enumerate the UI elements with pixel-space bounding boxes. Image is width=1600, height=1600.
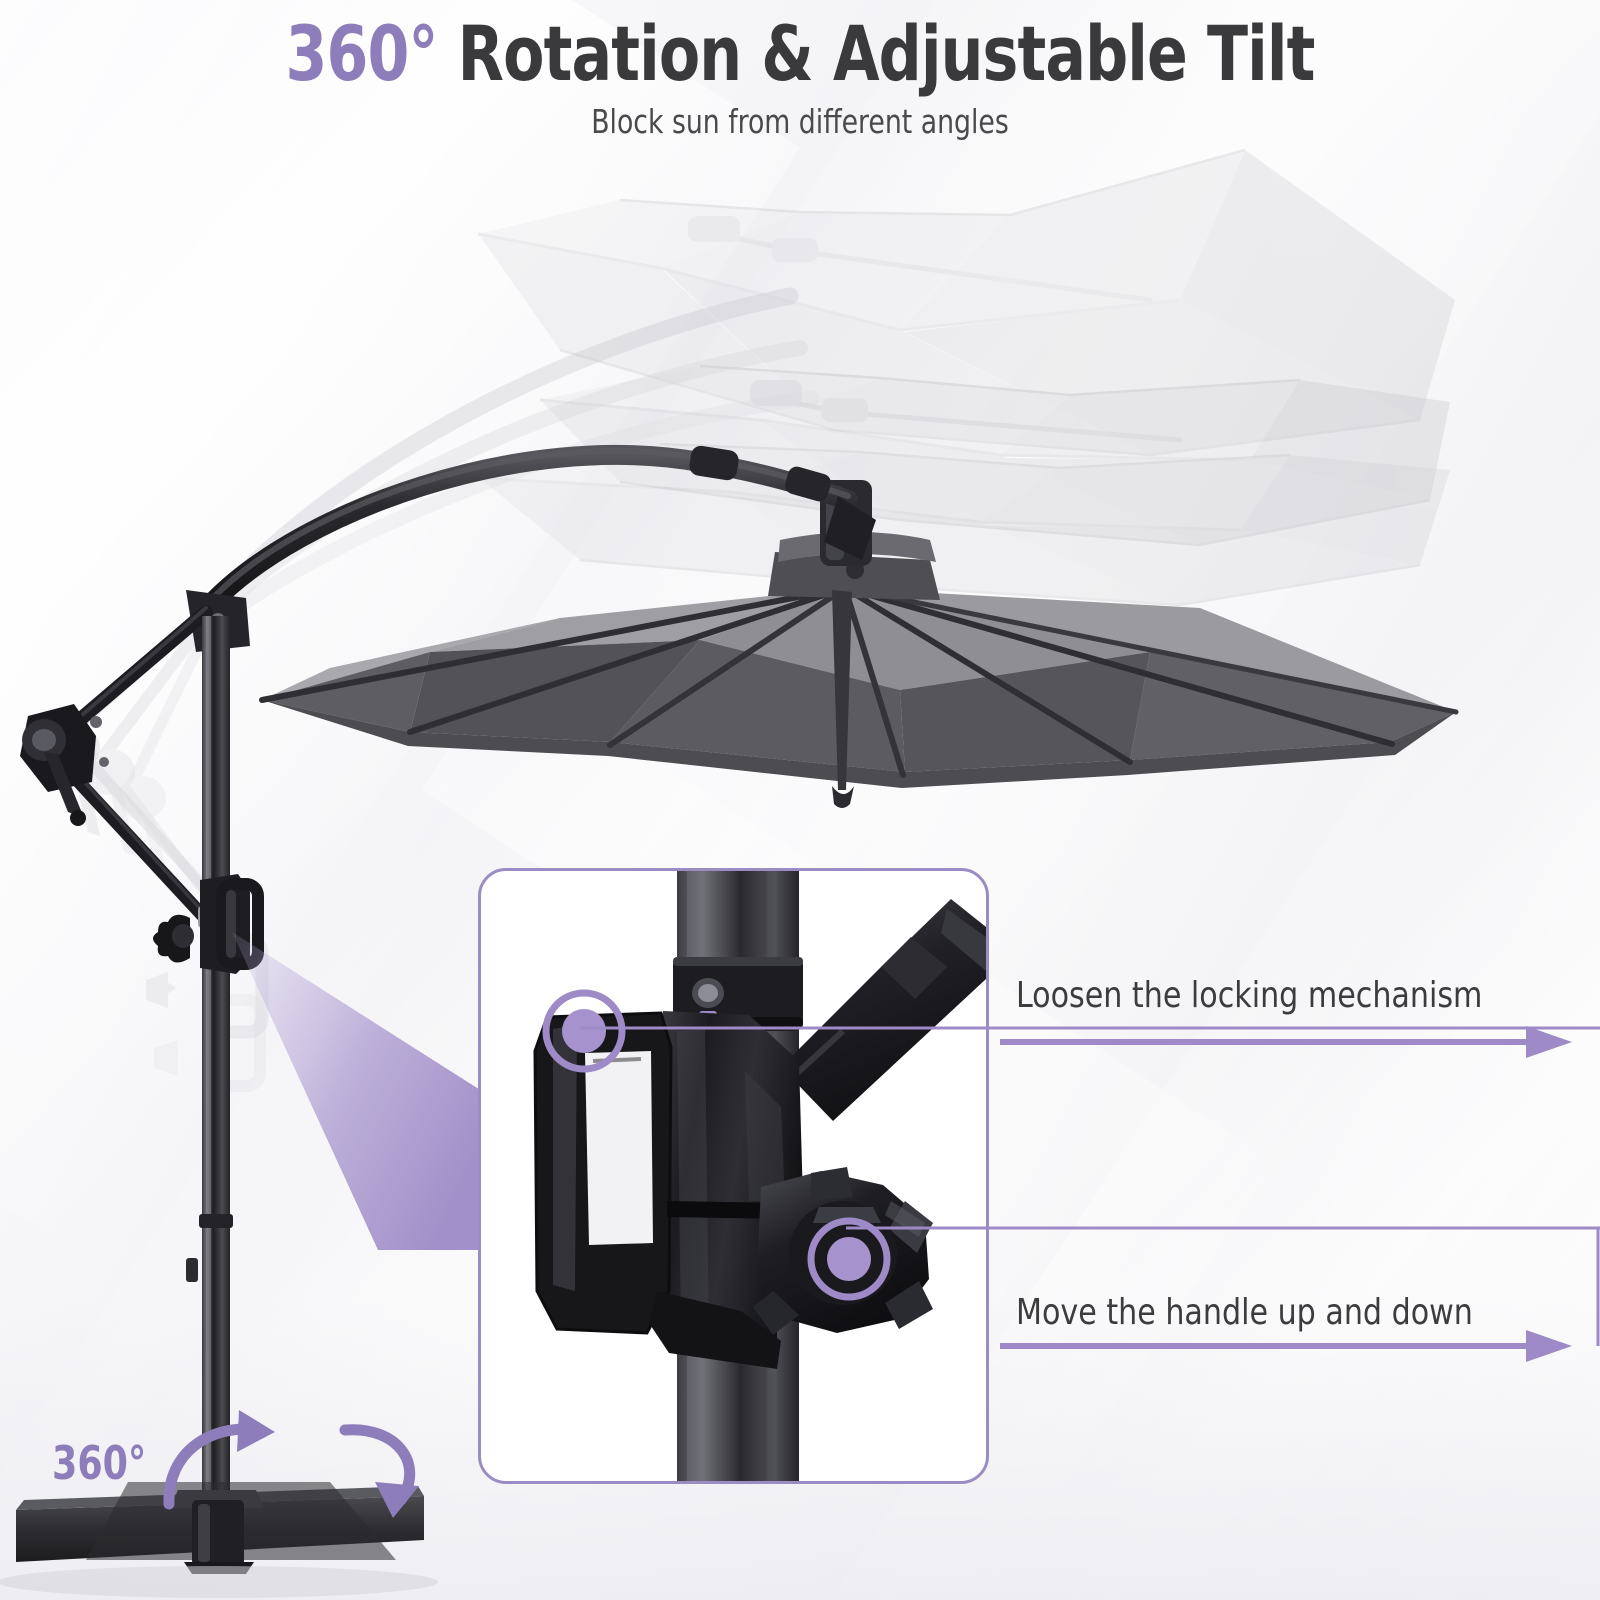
detail-inset-box [478, 868, 989, 1484]
rotation-badge: 360° [52, 1408, 453, 1518]
handle-closeup-illustration [481, 871, 986, 1481]
locking-handle-mechanism [153, 874, 258, 974]
callout-handle-label: Move the handle up and down [1016, 1292, 1473, 1333]
page-title: 360° Rotation & Adjustable Tilt [96, 14, 1504, 94]
ghost-canopy-low [480, 444, 1450, 605]
title-accent: 360° [285, 9, 437, 98]
rotation-arrows-icon [153, 1408, 453, 1518]
center-pole [186, 616, 234, 1546]
page-subtitle: Block sun from different angles [80, 102, 1520, 141]
callout-loosen-label: Loosen the locking mechanism [1016, 975, 1482, 1016]
callout-handle: Move the handle up and down [1016, 1292, 1507, 1333]
header: 360° Rotation & Adjustable Tilt Block su… [0, 14, 1600, 141]
title-rest: Rotation & Adjustable Tilt [438, 9, 1315, 98]
callout-loosen: Loosen the locking mechanism [1016, 975, 1517, 1016]
infographic-canvas: 360° Rotation & Adjustable Tilt Block su… [0, 0, 1600, 1600]
rotation-badge-label: 360° [52, 1436, 146, 1490]
